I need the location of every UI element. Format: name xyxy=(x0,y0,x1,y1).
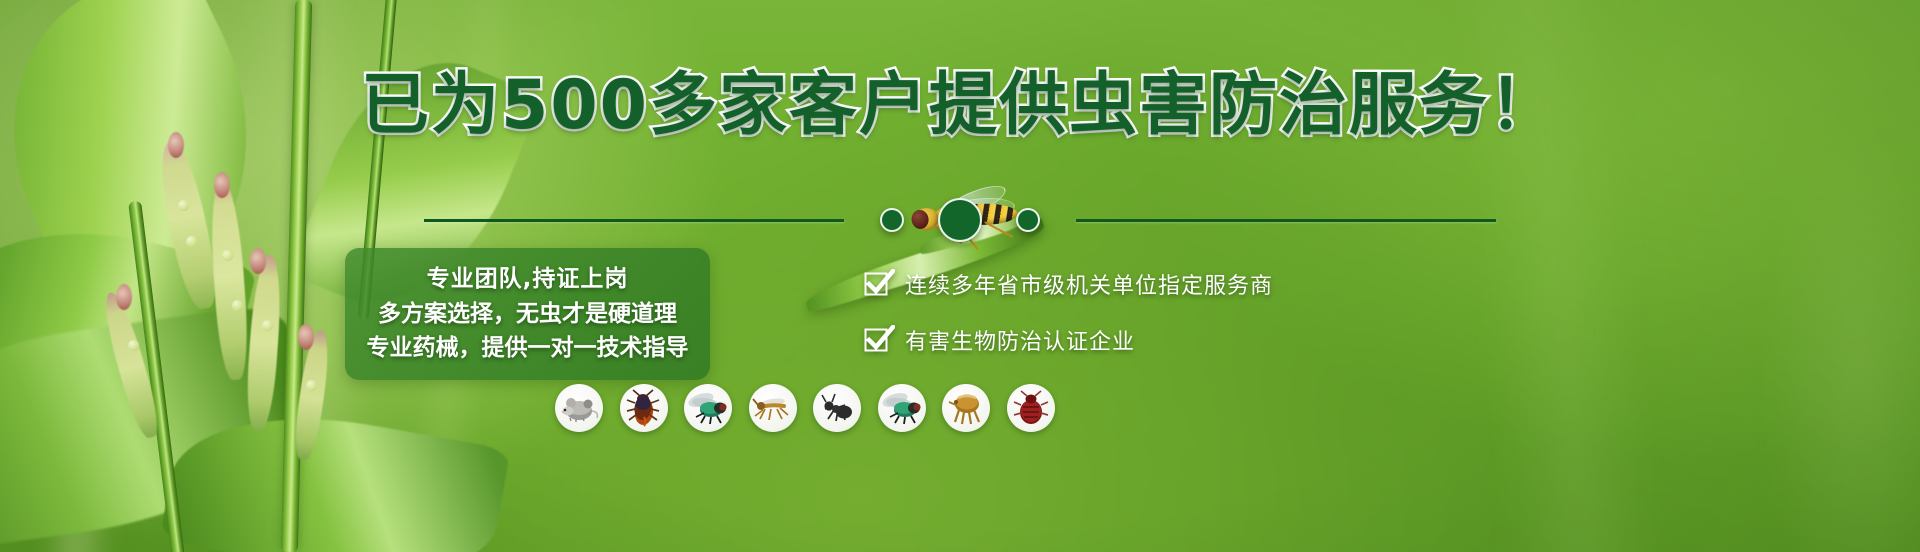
credential-label: 有害生物防治认证企业 xyxy=(905,324,1135,356)
ant-icon[interactable]: 蚂蚁 xyxy=(813,384,861,432)
divider-line-right xyxy=(1076,219,1496,222)
promo-banner: 已为500多家客户提供虫害防治服务！ 专业团队,持证上岗 多方案选择，无虫才是硬… xyxy=(0,0,1920,552)
divider-line-left xyxy=(424,219,844,222)
flower-grain xyxy=(306,380,317,391)
flower-bud-tip xyxy=(298,324,314,350)
flower-bud-tip xyxy=(250,248,266,274)
selling-points-box: 专业团队,持证上岗 多方案选择，无虫才是硬道理 专业药械，提供一对一技术指导 xyxy=(345,248,710,380)
selling-point-line-3: 专业药械，提供一对一技术指导 xyxy=(367,331,689,366)
dot-small-right-icon xyxy=(1016,208,1040,232)
pest-icon-row: 鼠 蟑螂 xyxy=(555,378,1055,438)
flower-grain xyxy=(128,340,139,351)
flower-bud-tip xyxy=(214,172,230,198)
flea-icon[interactable]: 跳蚤 xyxy=(942,384,990,432)
banner-headline: 已为500多家客户提供虫害防治服务！ xyxy=(0,72,1920,140)
flower-grain xyxy=(262,320,273,331)
dot-small-left-icon xyxy=(880,208,904,232)
checkbox-checked-icon xyxy=(865,271,891,297)
decorative-divider xyxy=(0,196,1920,244)
fly-icon[interactable]: 蝇 xyxy=(684,384,732,432)
cockroach-icon[interactable]: 蟑螂 xyxy=(620,384,668,432)
credential-item: 有害生物防治认证企业 xyxy=(865,324,1485,356)
mouse-icon[interactable]: 鼠 xyxy=(555,384,603,432)
checkbox-checked-icon xyxy=(865,327,891,353)
flower-grain xyxy=(222,250,233,261)
selling-point-line-1: 专业团队,持证上岗 xyxy=(427,262,629,297)
credential-label: 连续多年省市级机关单位指定服务商 xyxy=(905,268,1273,300)
credential-item: 连续多年省市级机关单位指定服务商 xyxy=(865,268,1485,300)
flower-bud-tip xyxy=(116,284,132,310)
credentials-list: 连续多年省市级机关单位指定服务商 有害生物防治认证企业 xyxy=(865,268,1485,380)
mosquito-icon[interactable]: 蚊 xyxy=(749,384,797,432)
dot-large-center-icon xyxy=(938,198,982,242)
selling-point-line-2: 多方案选择，无虫才是硬道理 xyxy=(378,297,677,332)
banner-headline-text: 已为500多家客户提供虫害防治服务！ xyxy=(361,66,1559,145)
divider-dots xyxy=(880,198,1040,242)
flower-grain xyxy=(232,300,243,311)
fly-icon[interactable]: 蝇 xyxy=(878,384,926,432)
bedbug-icon[interactable]: 臭虫 xyxy=(1007,384,1055,432)
